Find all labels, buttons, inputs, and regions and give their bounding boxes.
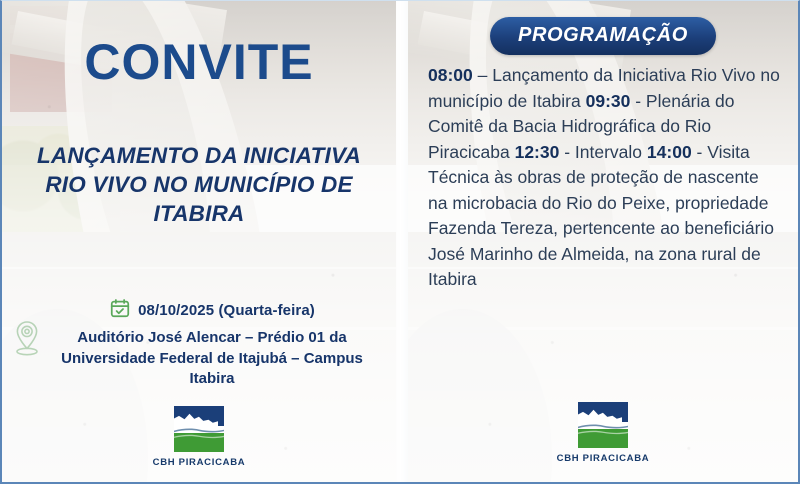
cbh-piracicaba-logo-left: CBH PIRACICABA xyxy=(2,405,396,468)
schedule-activity: - Visita Técnica às obras de proteção de… xyxy=(428,142,774,290)
schedule-item: 14:00 - Visita Técnica às obras de prote… xyxy=(428,142,774,290)
cbh-piracicaba-logo-mark xyxy=(574,401,632,449)
event-details: 08/10/2025 (Quarta-feira) Auditório José… xyxy=(32,297,370,390)
schedule-activity: - Intervalo xyxy=(559,142,642,162)
right-panel: PROGRAMAÇÃO 08:00 – Lançamento da Inicia… xyxy=(408,1,798,482)
schedule-time: 14:00 xyxy=(647,142,692,162)
cbh-piracicaba-logo-right: CBH PIRACICABA xyxy=(408,401,798,464)
event-date: 08/10/2025 (Quarta-feira) xyxy=(138,302,315,319)
programacao-badge: PROGRAMAÇÃO xyxy=(490,17,716,55)
schedule-item: 12:30 - Intervalo xyxy=(515,142,642,162)
logo-caption: CBH PIRACICABA xyxy=(153,457,246,468)
left-panel: CONVITE LANÇAMENTO DA INICIATIVA RIO VIV… xyxy=(2,1,396,482)
event-subtitle: LANÇAMENTO DA INICIATIVA RIO VIVO NO MUN… xyxy=(16,142,382,228)
schedule-time: 12:30 xyxy=(515,142,560,162)
event-location-text: Auditório José Alencar – Prédio 01 da Un… xyxy=(61,329,363,387)
page-title: CONVITE xyxy=(2,37,396,87)
event-location: Auditório José Alencar – Prédio 01 da Un… xyxy=(54,328,370,390)
schedule-time: 08:00 xyxy=(428,65,473,85)
panel-divider xyxy=(396,1,408,482)
map-pin-icon xyxy=(10,318,44,365)
logo-caption: CBH PIRACICABA xyxy=(557,453,650,464)
cbh-piracicaba-logo-mark xyxy=(170,405,228,453)
invitation-poster: CONVITE LANÇAMENTO DA INICIATIVA RIO VIV… xyxy=(0,0,800,484)
schedule-time: 09:30 xyxy=(586,91,631,111)
event-date-row: 08/10/2025 (Quarta-feira) xyxy=(54,297,370,324)
calendar-check-icon xyxy=(109,297,131,324)
schedule-list: 08:00 – Lançamento da Iniciativa Rio Viv… xyxy=(428,63,780,293)
